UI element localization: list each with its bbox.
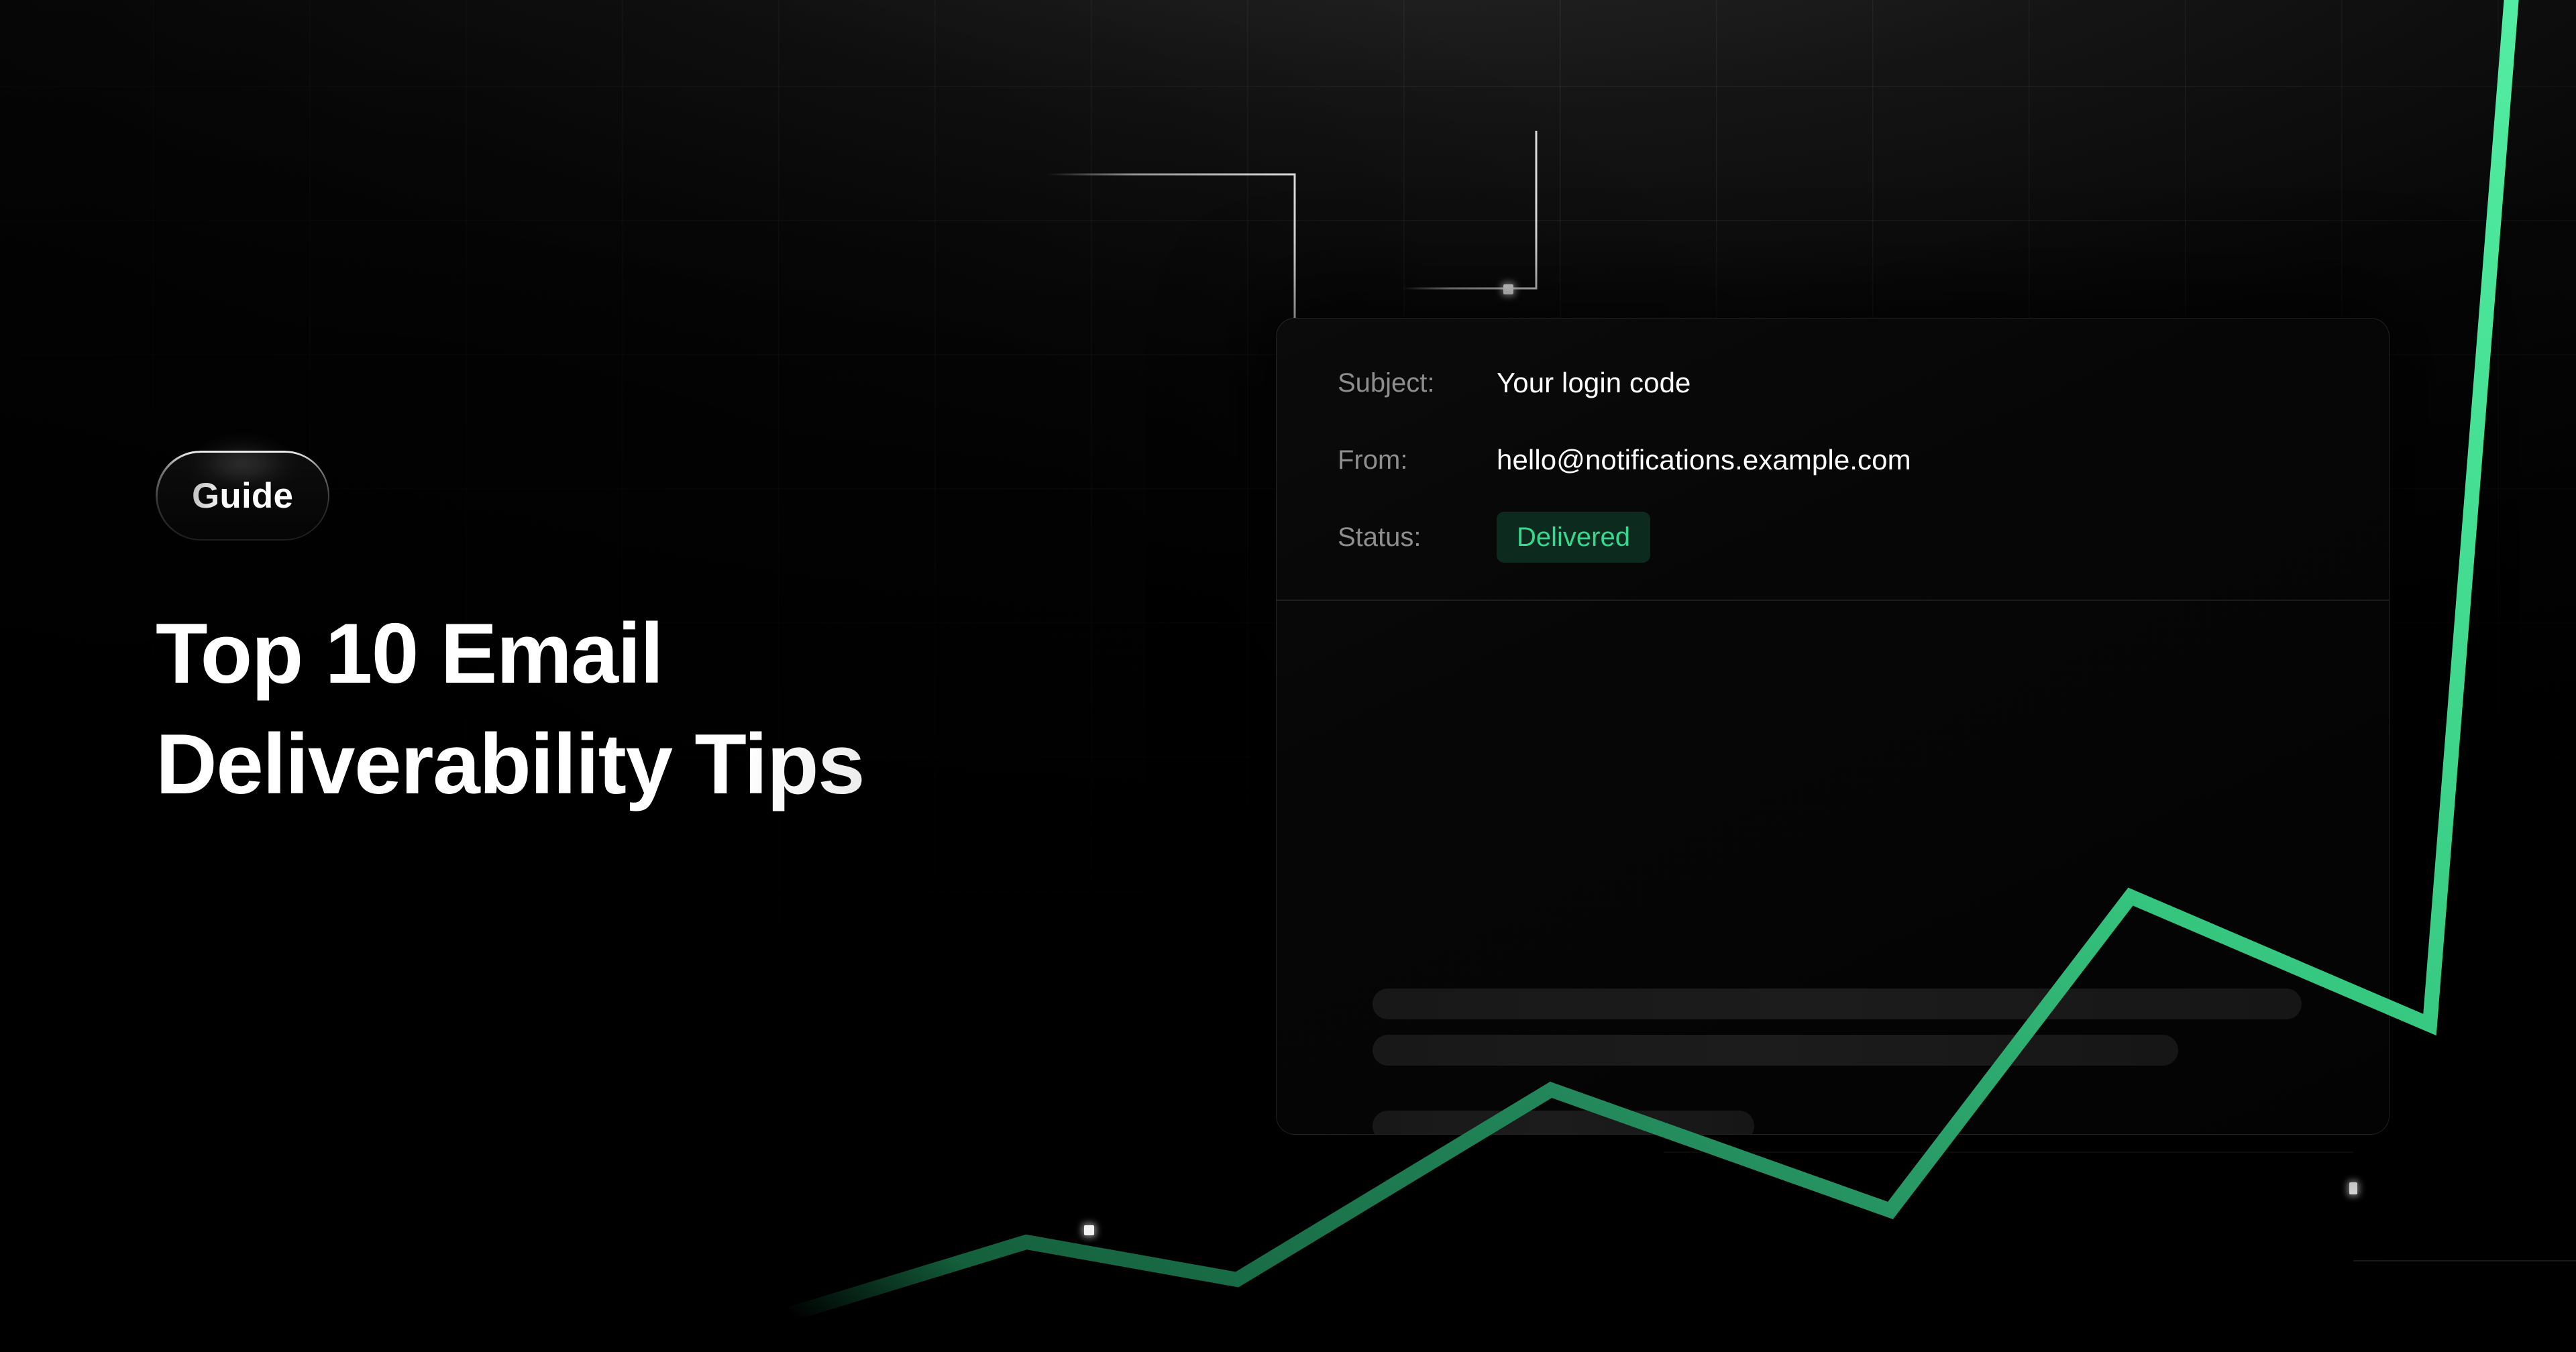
guide-badge-label: Guide [192, 475, 293, 516]
chart-line-series [789, 0, 2513, 1314]
deliverability-line-chart [0, 0, 2576, 1352]
